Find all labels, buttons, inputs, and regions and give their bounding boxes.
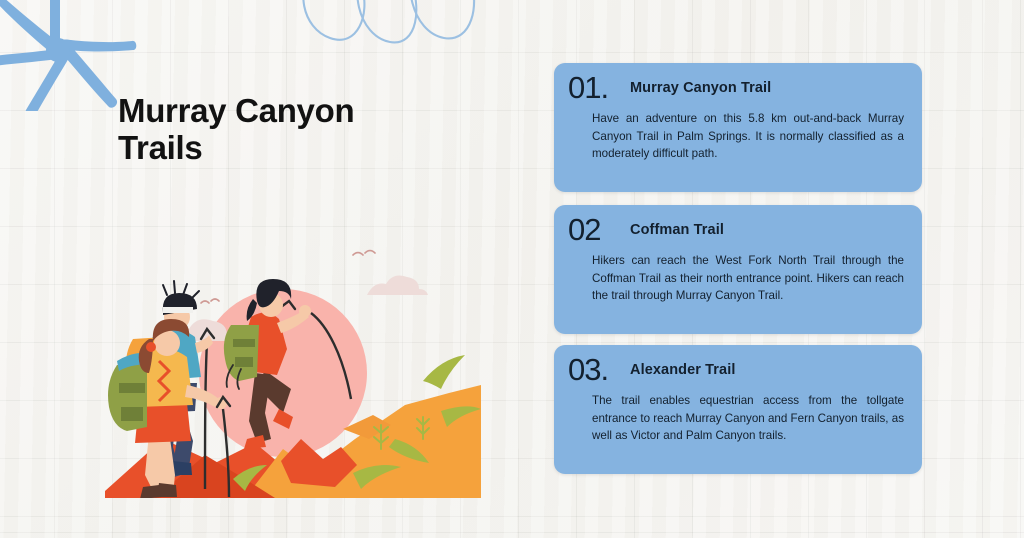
page-title: Murray Canyon Trails [118,92,448,167]
trail-card-1-title: Murray Canyon Trail [630,80,771,96]
trail-card-1-header: 01. Murray Canyon Trail [568,74,908,108]
trail-card-3-title: Alexander Trail [630,362,735,378]
page-title-line-2: Trails [118,129,448,166]
trail-card-2-header: 02 Coffman Trail [568,216,908,250]
page-title-line-1: Murray Canyon [118,92,448,129]
trail-card-3-number: 03. [568,354,608,385]
blue-loop-scribble-doodle [300,0,480,70]
trail-card-1-number: 01. [568,72,608,103]
trail-card-2-body: Hikers can reach the West Fork North Tra… [592,252,904,305]
slide-canvas: Murray Canyon Trails [0,0,1024,538]
trail-card-1[interactable]: 01. Murray Canyon Trail Have an adventur… [554,63,922,192]
trail-card-2[interactable]: 02 Coffman Trail Hikers can reach the We… [554,205,922,334]
trail-card-1-body: Have an adventure on this 5.8 km out-and… [592,110,904,163]
trail-card-2-number: 02 [568,214,600,245]
trail-card-3-body: The trail enables equestrian access from… [592,392,904,445]
trail-card-2-title: Coffman Trail [630,222,724,238]
trail-card-3[interactable]: 03. Alexander Trail The trail enables eq… [554,345,922,474]
trail-card-3-header: 03. Alexander Trail [568,356,908,390]
three-hikers-on-mountain-illustration [105,243,481,498]
